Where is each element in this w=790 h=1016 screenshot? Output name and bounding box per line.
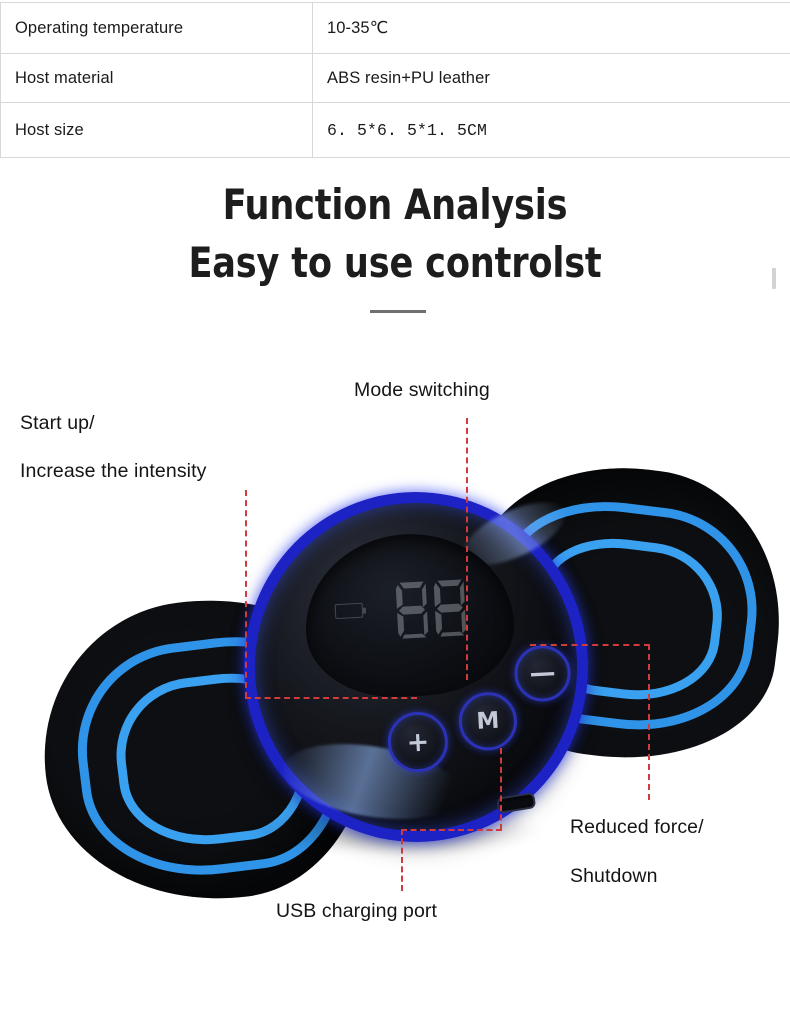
product-illustration: + M — xyxy=(0,440,790,920)
leader-line-usb-vertical-lower xyxy=(401,829,403,891)
scrollbar-tick xyxy=(772,268,776,289)
leader-line-reduced-force-vertical xyxy=(648,644,650,800)
spec-key: Operating temperature xyxy=(1,3,313,54)
label-reduced-force: Reduced force/ xyxy=(570,816,704,839)
battery-icon xyxy=(335,603,364,619)
label-shutdown: Shutdown xyxy=(570,865,658,888)
label-usb-charging-port: USB charging port xyxy=(276,900,437,923)
label-start-up: Start up/ xyxy=(20,412,95,435)
table-row: Operating temperature 10-35℃ xyxy=(1,3,790,54)
spec-value: ABS resin+PU leather xyxy=(313,54,790,103)
label-increase-intensity: Increase the intensity xyxy=(20,460,206,483)
leader-line-start-up-vertical xyxy=(245,490,247,698)
table-row: Host size 6. 5*6. 5*1. 5CM xyxy=(1,103,790,158)
leader-line-reduced-force-horizontal xyxy=(530,644,650,646)
label-mode-switching: Mode switching xyxy=(354,379,490,402)
title-line-1: Function Analysis xyxy=(28,176,763,234)
leader-line-mode-switching xyxy=(466,418,468,680)
seven-segment-digits xyxy=(389,575,470,641)
spec-key: Host material xyxy=(1,54,313,103)
title-line-2: Easy to use controlst xyxy=(28,234,763,292)
spec-value: 10-35℃ xyxy=(313,3,790,54)
leader-line-usb-horizontal xyxy=(401,829,502,831)
table-row: Host material ABS resin+PU leather xyxy=(1,54,790,103)
leader-line-start-up-horizontal xyxy=(245,697,417,699)
spec-table: Operating temperature 10-35℃ Host materi… xyxy=(0,2,790,158)
controller-body: + M — xyxy=(243,492,588,843)
spec-value: 6. 5*6. 5*1. 5CM xyxy=(313,103,790,158)
title-divider xyxy=(370,310,426,313)
leader-line-usb-vertical-upper xyxy=(500,748,502,830)
spec-key: Host size xyxy=(1,103,313,158)
page-title: Function Analysis Easy to use controlst xyxy=(0,176,790,292)
